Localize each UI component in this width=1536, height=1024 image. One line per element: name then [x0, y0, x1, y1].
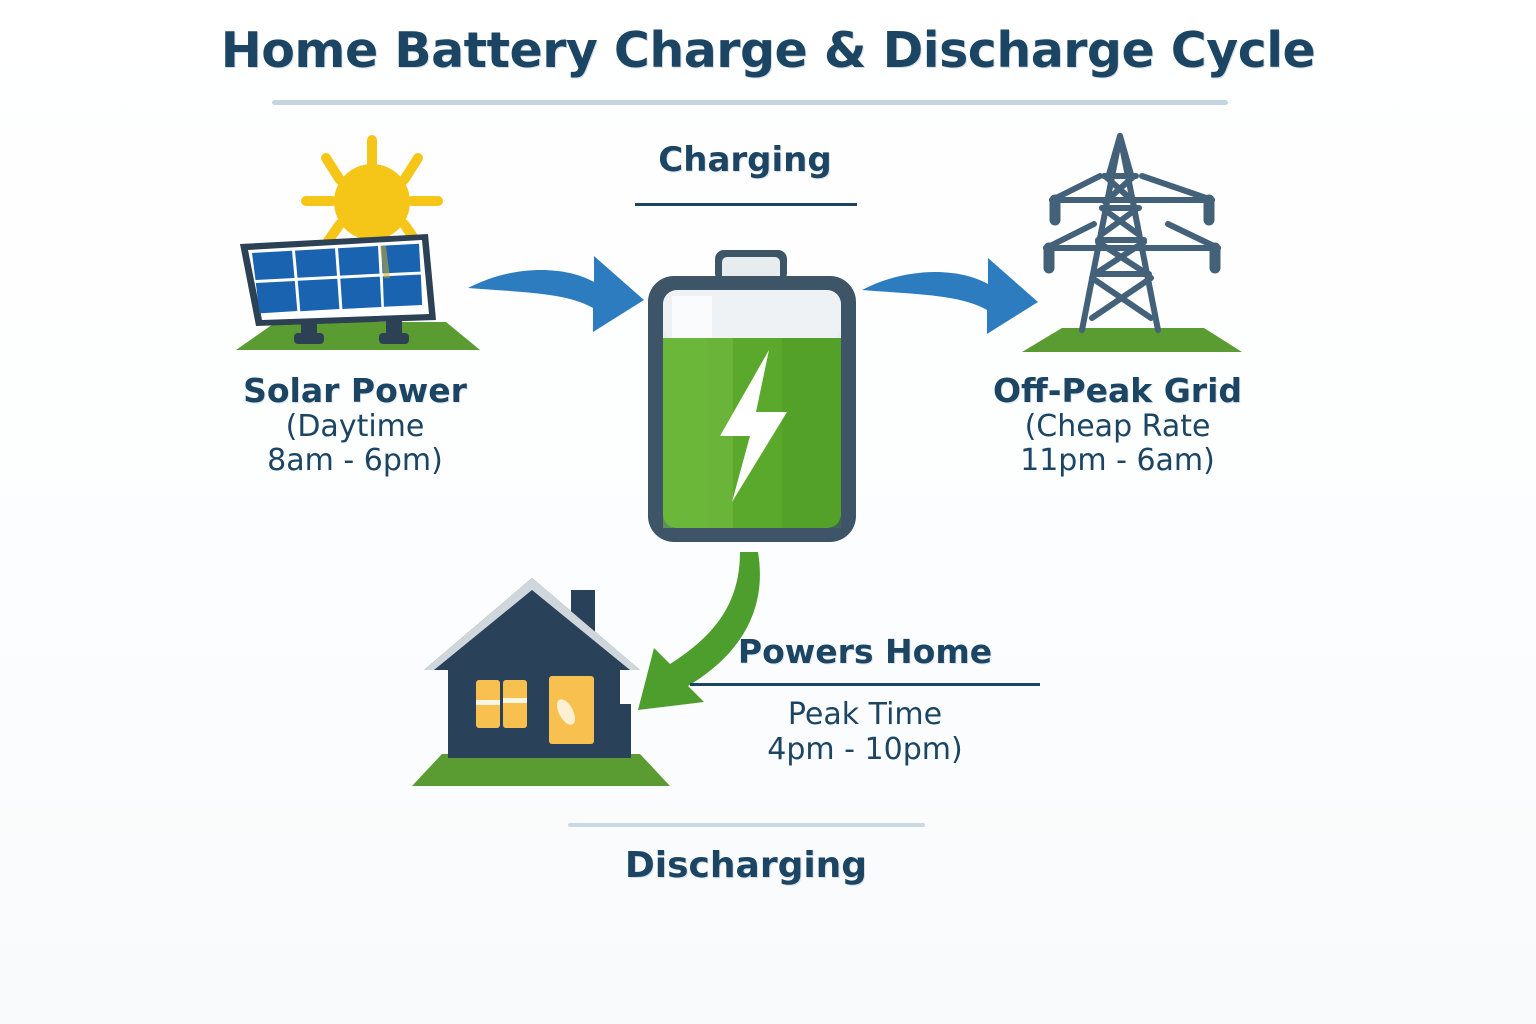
powers-home-sub-2: 4pm - 10pm)	[690, 733, 1040, 768]
house-icon	[408, 556, 678, 794]
charging-underline	[635, 203, 857, 206]
page-title: Home Battery Charge & Discharge Cycle	[0, 22, 1536, 79]
solar-panel-with-sun-icon	[228, 128, 488, 360]
solar-caption-title: Solar Power	[195, 372, 515, 410]
solar-caption-sub-2: 8am - 6pm)	[195, 444, 515, 478]
curved-arrow-right-icon	[462, 248, 648, 344]
powers-home-sub-1: Peak Time	[690, 698, 1040, 733]
discharging-section-label: Discharging	[546, 845, 946, 886]
charging-section-label: Charging	[575, 140, 915, 180]
title-divider	[272, 100, 1228, 105]
transmission-tower-icon	[1008, 120, 1256, 360]
powers-home-label: Powers Home	[690, 632, 1040, 671]
battery-charging-icon	[632, 240, 872, 560]
solar-caption-sub-1: (Daytime	[195, 410, 515, 444]
grid-caption-sub-1: (Cheap Rate	[955, 410, 1280, 444]
powers-home-title: Powers Home	[690, 632, 1040, 671]
infographic-canvas: Home Battery Charge & Discharge Cycle Ch…	[0, 0, 1536, 1024]
grid-caption-sub-2: 11pm - 6am)	[955, 444, 1280, 478]
powers-home-subtext: Peak Time 4pm - 10pm)	[690, 698, 1040, 767]
discharging-divider	[568, 823, 925, 827]
grid-caption: Off-Peak Grid (Cheap Rate 11pm - 6am)	[955, 372, 1280, 478]
solar-caption: Solar Power (Daytime 8am - 6pm)	[195, 372, 515, 478]
grid-caption-title: Off-Peak Grid	[955, 372, 1280, 410]
powers-home-underline	[690, 683, 1040, 686]
